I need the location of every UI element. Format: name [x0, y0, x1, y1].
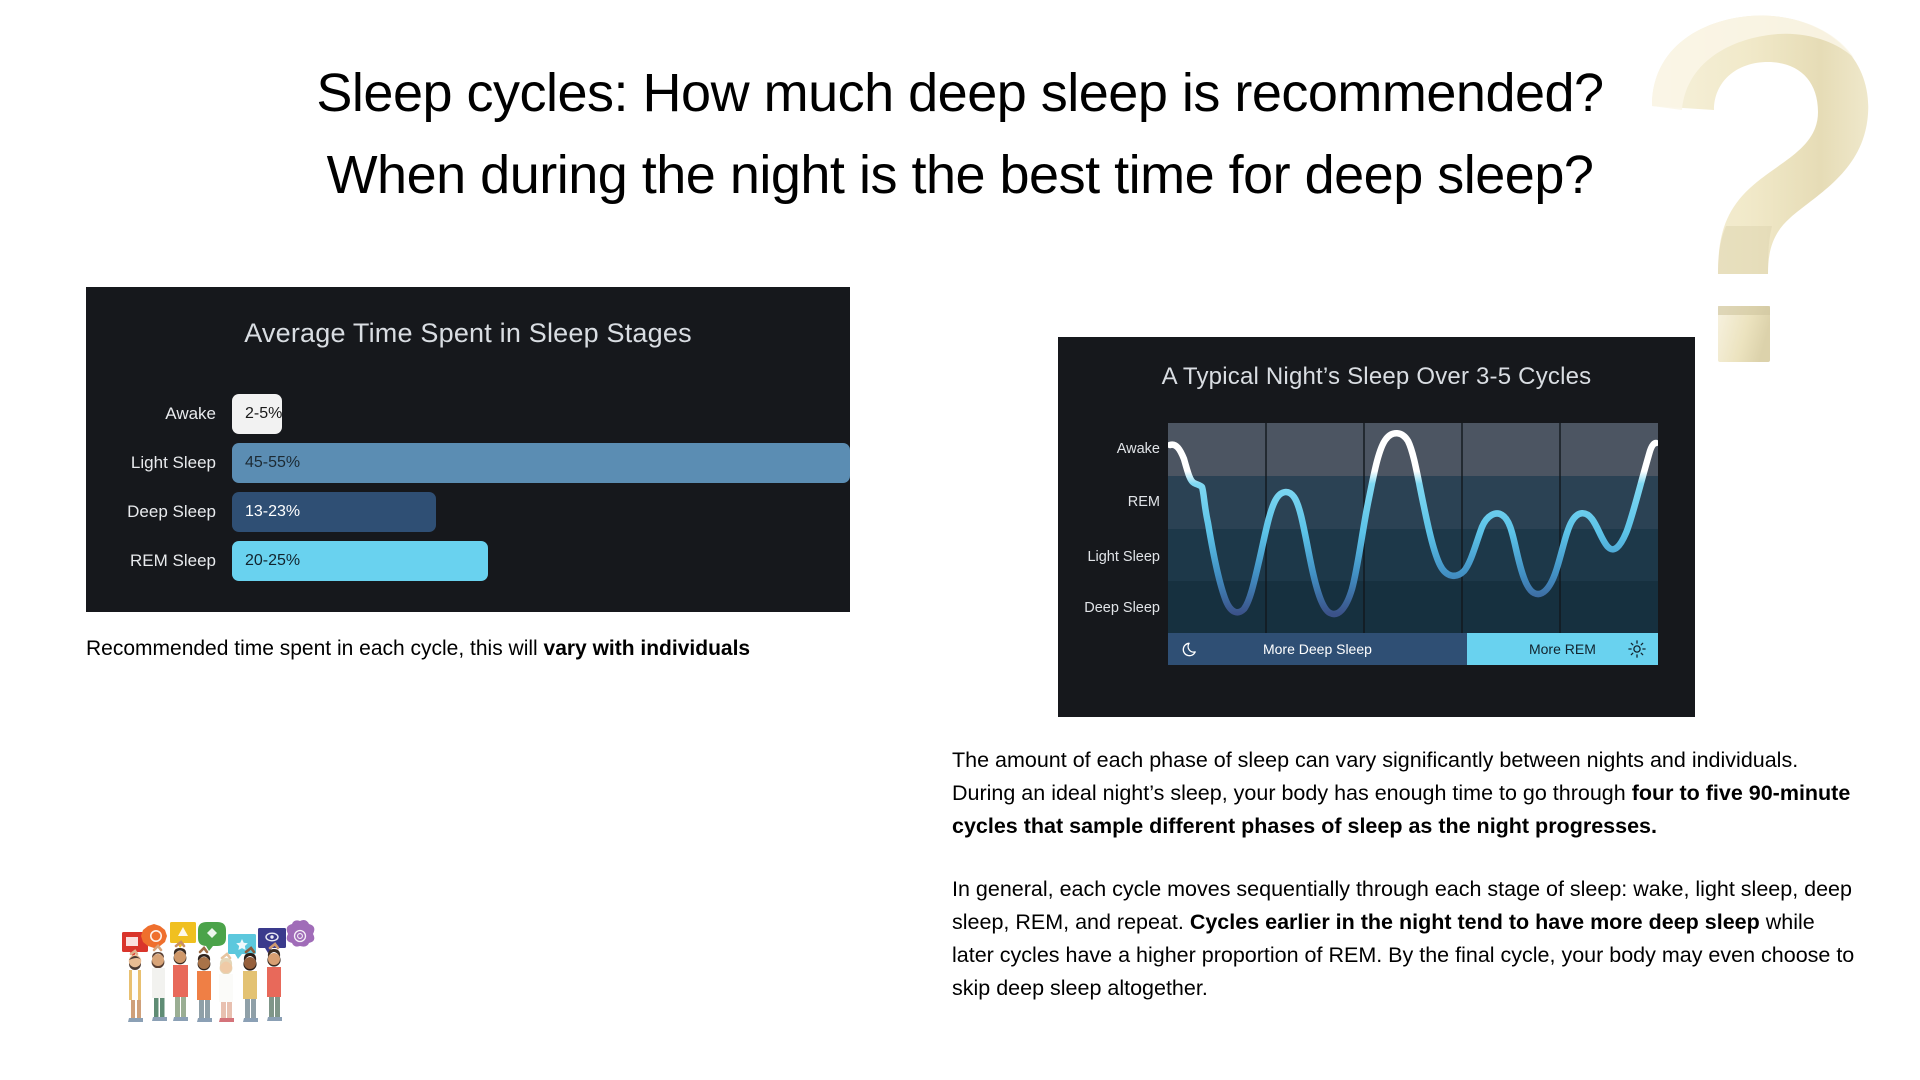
bar-chart-caption-bold: vary with individuals — [544, 637, 751, 660]
body-text-block: The amount of each phase of sleep can va… — [952, 744, 1862, 1005]
bar-label-light-sleep: Light Sleep — [86, 453, 232, 473]
bar-track-light-sleep: 45-55% — [232, 443, 850, 483]
hypnogram-ylabel-rem: REM — [1128, 494, 1160, 510]
hypnogram-panel: A Typical Night’s Sleep Over 3-5 Cycles … — [1058, 337, 1695, 717]
body-paragraph-1: The amount of each phase of sleep can va… — [952, 744, 1862, 843]
bar-fill-deep-sleep: 13-23% — [232, 492, 436, 532]
page-title: Sleep cycles: How much deep sleep is rec… — [0, 52, 1920, 216]
hypnogram-plot-area — [1168, 423, 1658, 633]
bar-value-deep-sleep: 13-23% — [245, 503, 300, 521]
bar-value-rem-sleep: 20-25% — [245, 552, 300, 570]
bar-track-rem-sleep: 20-25% — [232, 541, 850, 581]
hypnogram-title: A Typical Night’s Sleep Over 3-5 Cycles — [1058, 363, 1695, 391]
band-light-sleep — [1168, 529, 1658, 581]
page-title-line-2: When during the night is the best time f… — [0, 134, 1920, 216]
hypnogram-ylabel-deep-sleep: Deep Sleep — [1084, 600, 1160, 616]
page-title-line-1: Sleep cycles: How much deep sleep is rec… — [0, 52, 1920, 134]
bar-label-deep-sleep: Deep Sleep — [86, 502, 232, 522]
bar-chart-caption: Recommended time spent in each cycle, th… — [86, 634, 906, 664]
bar-fill-rem-sleep: 20-25% — [232, 541, 488, 581]
bar-label-awake: Awake — [86, 404, 232, 424]
legend-segment-more-rem: More REM — [1467, 633, 1658, 665]
bar-value-light-sleep: 45-55% — [245, 454, 300, 472]
hypnogram-legend: More Deep Sleep More REM — [1168, 633, 1658, 665]
bar-row-rem-sleep: REM Sleep 20-25% — [86, 536, 850, 585]
people-with-signs-illustration — [110, 912, 320, 1030]
bar-fill-light-sleep: 45-55% — [232, 443, 850, 483]
sun-icon — [1628, 640, 1646, 658]
bar-chart-title: Average Time Spent in Sleep Stages — [86, 318, 850, 349]
band-rem — [1168, 476, 1658, 529]
bar-fill-awake: 2-5% — [232, 394, 282, 434]
legend-label-more-rem: More REM — [1529, 641, 1596, 657]
hypnogram-ylabel-light-sleep: Light Sleep — [1087, 549, 1160, 565]
illustration-signs — [122, 920, 314, 959]
legend-segment-more-deep-sleep: More Deep Sleep — [1168, 633, 1467, 665]
bar-row-deep-sleep: Deep Sleep 13-23% — [86, 487, 850, 536]
hypnogram-ylabel-awake: Awake — [1117, 441, 1160, 457]
bar-track-awake: 2-5% — [232, 394, 850, 434]
bar-value-awake: 2-5% — [245, 405, 282, 423]
bar-track-deep-sleep: 13-23% — [232, 492, 850, 532]
illustration-people — [128, 942, 282, 1022]
bar-chart-caption-plain: Recommended time spent in each cycle, th… — [86, 637, 544, 660]
hypnogram-y-axis-labels: Awake REM Light Sleep Deep Sleep — [1058, 423, 1168, 633]
body-paragraph-2-bold: Cycles earlier in the night tend to have… — [1190, 910, 1760, 934]
legend-label-more-deep-sleep: More Deep Sleep — [1263, 641, 1372, 657]
body-paragraph-2: In general, each cycle moves sequentiall… — [952, 873, 1862, 1005]
bar-chart-rows: Awake 2-5% Light Sleep 45-55% Deep Sleep… — [86, 389, 850, 585]
bar-row-light-sleep: Light Sleep 45-55% — [86, 438, 850, 487]
sleep-stages-bar-chart-panel: Average Time Spent in Sleep Stages Awake… — [86, 287, 850, 612]
bar-label-rem-sleep: REM Sleep — [86, 551, 232, 571]
moon-icon — [1182, 640, 1200, 658]
bar-row-awake: Awake 2-5% — [86, 389, 850, 438]
